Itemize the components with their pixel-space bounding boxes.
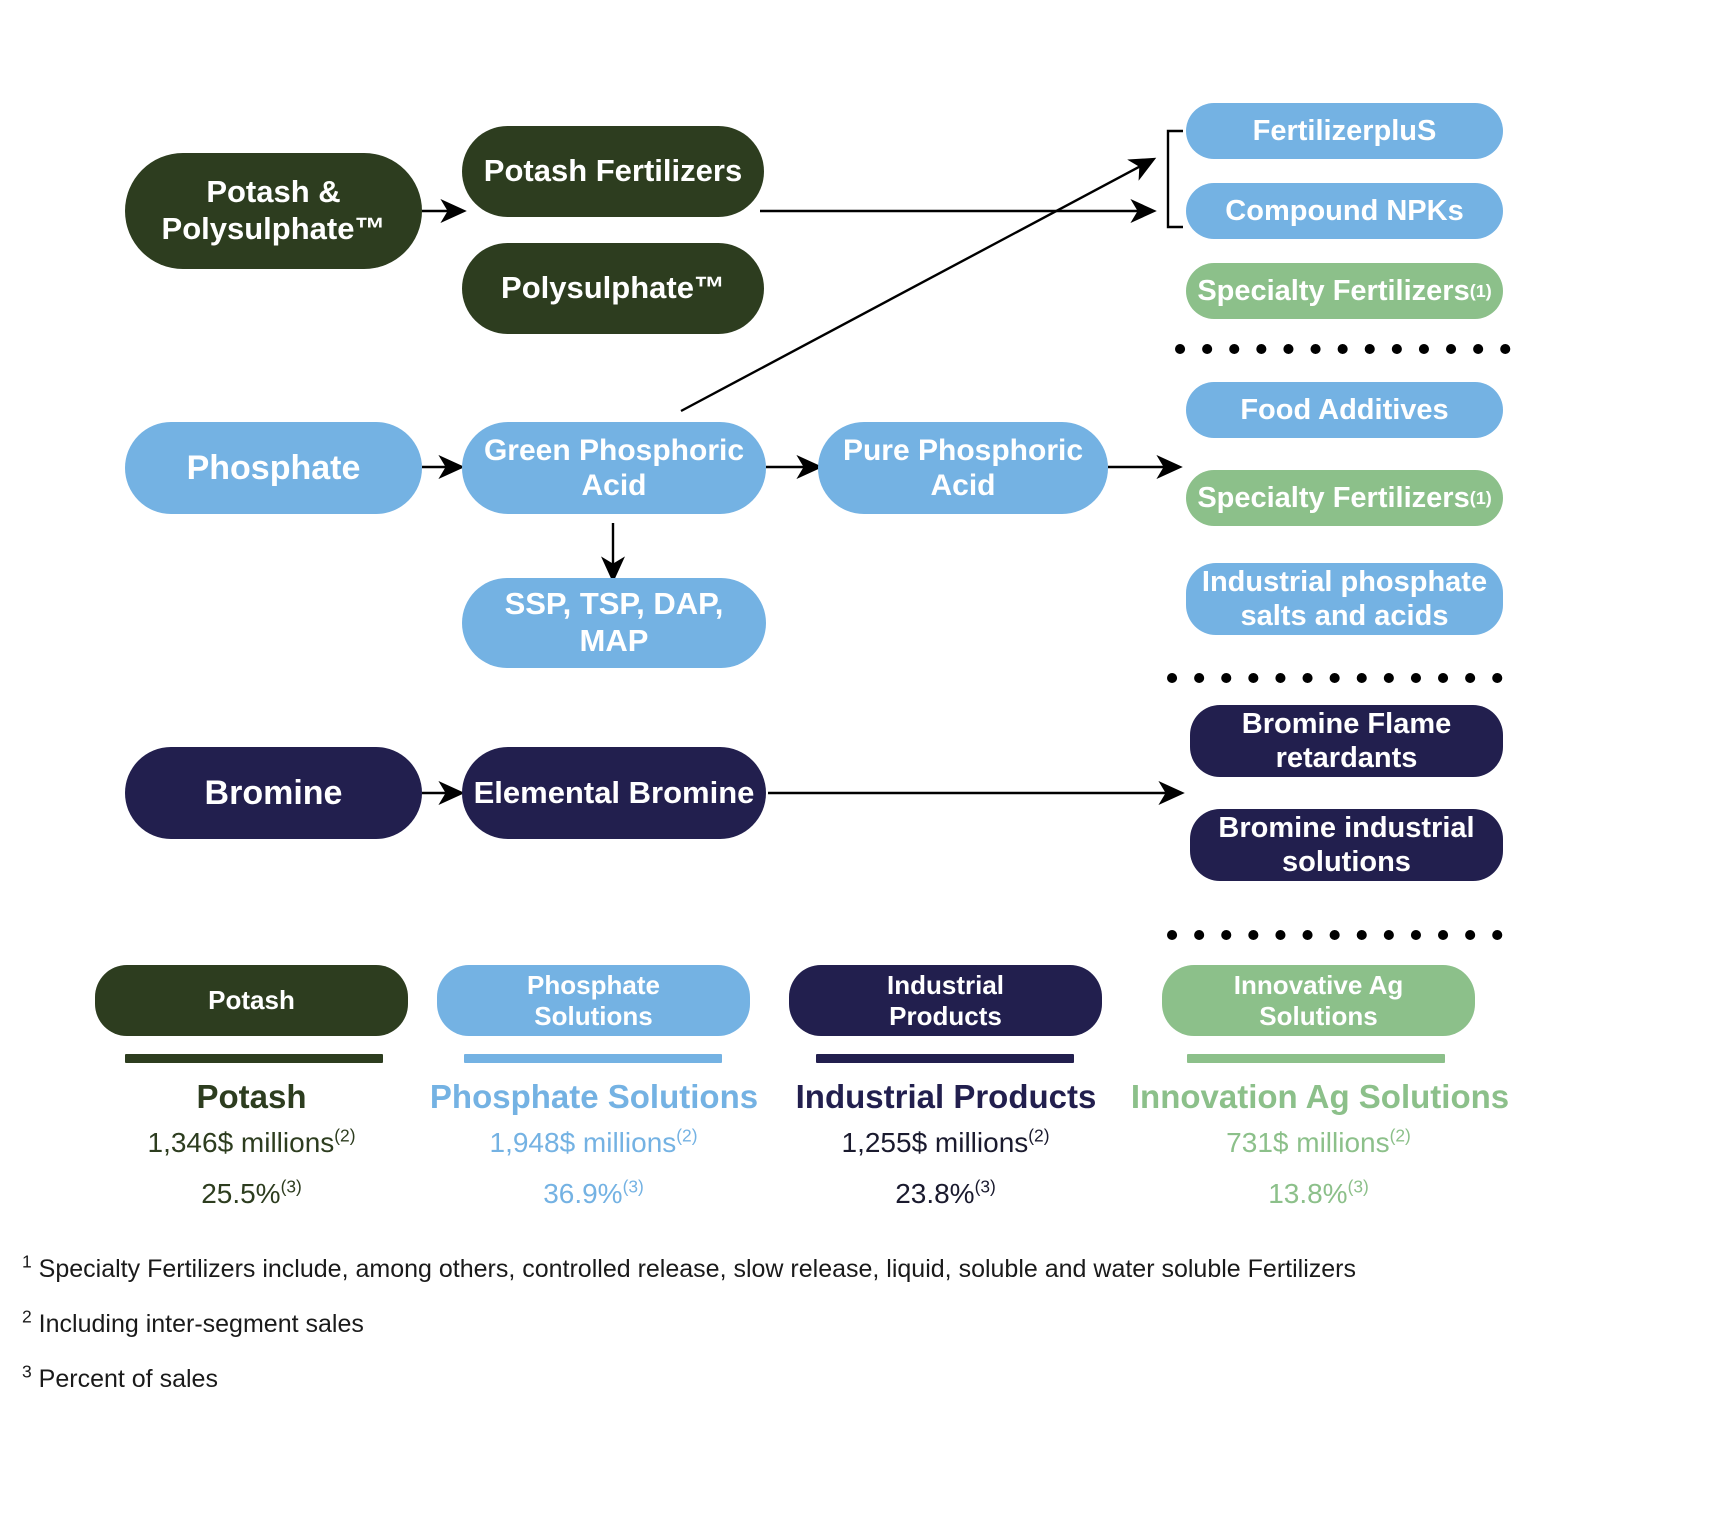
footnote-ref-2d: (2) [1390,1126,1411,1146]
diagram-canvas: Potash & Polysulphate™ Potash Fertilizer… [0,0,1713,1535]
segment-pill-phosphate-solutions[interactable]: Phosphate Solutions [437,965,750,1036]
node-industrial-phosphate-salts[interactable]: Industrial phosphate salts and acids [1186,563,1503,635]
node-potash-polysulphate[interactable]: Potash & Polysulphate™ [125,153,422,269]
footnote-ref-3b: (3) [623,1177,644,1197]
segment-bar-potash [125,1054,383,1063]
node-elemental-bromine[interactable]: Elemental Bromine [462,747,766,839]
node-compound-npks[interactable]: Compound NPKs [1186,183,1503,239]
sales-value: 1,948$ millions [490,1127,677,1158]
footnote-ref-2b: (2) [676,1126,697,1146]
segment-sales-potash: 1,346$ millions(2) [95,1127,408,1159]
sales-value: 1,346$ millions [148,1127,335,1158]
footnote-ref-2c: (2) [1028,1126,1049,1146]
footnote-1: 1 Specialty Fertilizers include, among o… [22,1255,1356,1284]
segment-bar-phosphate-solutions [464,1054,722,1063]
segment-bar-innovative-ag-solutions [1187,1054,1445,1063]
specialty-fertilizers-label: Specialty Fertilizers [1197,274,1469,308]
footnote-2: 2 Including inter-segment sales [22,1310,364,1339]
segment-sales-industrial-products: 1,255$ millions(2) [789,1127,1102,1159]
segment-title-phosphate-solutions: Phosphate Solutions [414,1078,774,1116]
segment-pill-industrial-products[interactable]: Industrial Products [789,965,1102,1036]
footnote-text: Including inter-segment sales [32,1310,364,1338]
segment-percent-industrial-products: 23.8%(3) [789,1178,1102,1210]
node-potash-fertilizers[interactable]: Potash Fertilizers [462,126,764,217]
segment-title-industrial-products: Industrial Products [776,1078,1116,1116]
footnote-text: Specialty Fertilizers include, among oth… [32,1255,1356,1283]
segment-sales-innovative-ag-solutions: 731$ millions(2) [1162,1127,1475,1159]
node-fertilizerplus[interactable]: FertilizerpluS [1186,103,1503,159]
percent-value: 23.8% [895,1178,974,1209]
segment-percent-potash: 25.5%(3) [95,1178,408,1210]
footnote-3: 3 Percent of sales [22,1365,218,1394]
footnote-ref-3c: (3) [975,1177,996,1197]
node-polysulphate[interactable]: Polysulphate™ [462,243,764,334]
bracket-potash-outputs [1168,131,1183,227]
node-green-phosphoric-acid[interactable]: Green Phosphoric Acid [462,422,766,514]
node-ssp-tsp-dap-map[interactable]: SSP, TSP, DAP, MAP [462,578,766,668]
footnote-marker: 2 [22,1307,32,1327]
footnote-ref-3d: (3) [1348,1177,1369,1197]
footnote-marker: 1 [22,1252,32,1272]
segment-percent-phosphate-solutions: 36.9%(3) [437,1178,750,1210]
node-bromine-industrial-solutions[interactable]: Bromine industrial solutions [1190,809,1503,881]
footnote-ref-2a: (2) [334,1126,355,1146]
node-bromine-flame-retardants[interactable]: Bromine Flame retardants [1190,705,1503,777]
node-specialty-fertilizers-phosphate[interactable]: Specialty Fertilizers(1) [1186,470,1503,526]
segment-bar-industrial-products [816,1054,1074,1063]
specialty-fertilizers-label-2: Specialty Fertilizers [1197,481,1469,515]
footnote-text: Percent of sales [32,1365,218,1393]
node-phosphate[interactable]: Phosphate [125,422,422,514]
segment-title-potash: Potash [95,1078,408,1116]
percent-value: 25.5% [201,1178,280,1209]
node-specialty-fertilizers-potash[interactable]: Specialty Fertilizers(1) [1186,263,1503,319]
node-food-additives[interactable]: Food Additives [1186,382,1503,438]
percent-value: 36.9% [543,1178,622,1209]
segment-percent-innovative-ag-solutions: 13.8%(3) [1162,1178,1475,1210]
percent-value: 13.8% [1268,1178,1347,1209]
node-bromine[interactable]: Bromine [125,747,422,839]
segment-pill-potash[interactable]: Potash [95,965,408,1036]
node-pure-phosphoric-acid[interactable]: Pure Phosphoric Acid [818,422,1108,514]
footnote-marker: 3 [22,1362,32,1382]
sales-value: 731$ millions [1226,1127,1389,1158]
segment-title-innovative-ag-solutions: Innovation Ag Solutions [1130,1078,1510,1116]
segment-pill-innovative-ag-solutions[interactable]: Innovative Ag Solutions [1162,965,1475,1036]
segment-sales-phosphate-solutions: 1,948$ millions(2) [437,1127,750,1159]
sales-value: 1,255$ millions [842,1127,1029,1158]
footnote-ref-3a: (3) [281,1177,302,1197]
